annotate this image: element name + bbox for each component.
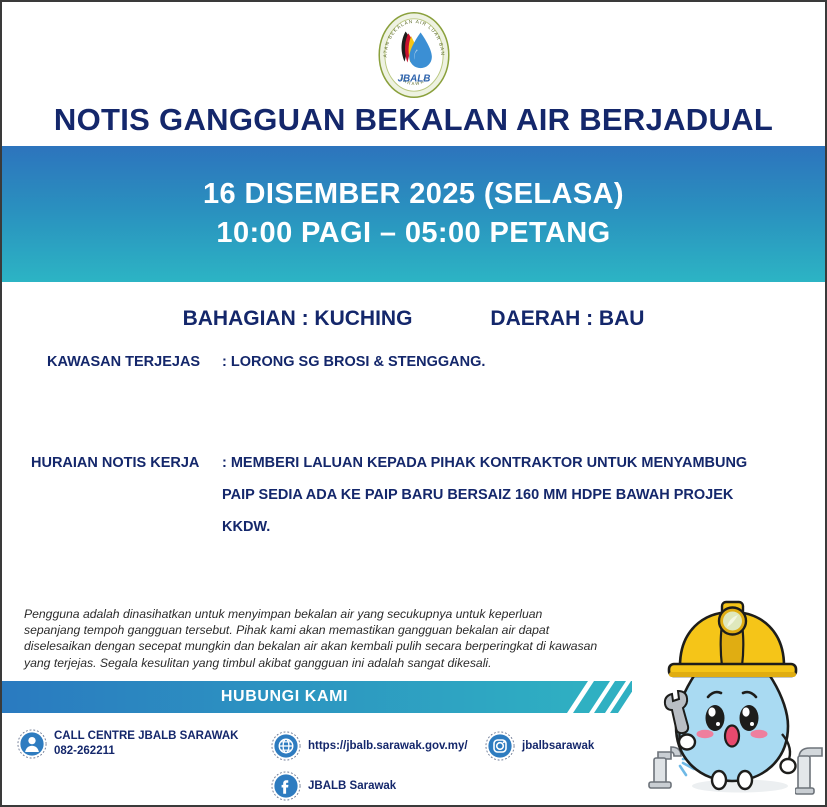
contact-facebook-text: JBALB Sarawak (308, 779, 396, 794)
hardhat-icon (669, 602, 796, 677)
pipe-tap-shape (795, 744, 825, 806)
work-description-line: : MEMBERI LALUAN KEPADA PIHAK KONTRAKTOR… (222, 455, 747, 471)
contact-bar-title: HUBUNGI KAMI (2, 681, 567, 713)
affected-area-value: : LORONG SG BROSI & STENGGANG. (222, 354, 485, 370)
globe-website-icon (271, 731, 301, 761)
disclaimer-text: Pengguna adalah dinasihatkan untuk menyi… (24, 606, 600, 671)
contact-facebook[interactable]: JBALB Sarawak (271, 771, 396, 801)
work-description-line: KKDW. (222, 519, 747, 535)
work-description-line: PAIP SEDIA ADA KE PAIP BARU BERSAIZ 160 … (222, 487, 747, 503)
wrench-icon (665, 691, 688, 733)
contact-website-text: https://jbalb.sarawak.gov.my/ (308, 739, 468, 754)
contact-call-centre[interactable]: CALL CENTRE JBALB SARAWAK 082-262211 (17, 729, 238, 759)
banner-date: 16 DISEMBER 2025 (SELASA) (203, 178, 624, 211)
contact-call-centre-text: CALL CENTRE JBALB SARAWAK 082-262211 (54, 729, 238, 758)
person-call-centre-icon (17, 729, 47, 759)
logo-acronym: JBALB (397, 73, 430, 84)
page-title: NOTIS GANGGUAN BEKALAN AIR BERJADUAL (2, 102, 825, 138)
contact-instagram[interactable]: jbalbsarawak (485, 731, 594, 761)
work-description-label: HURAIAN NOTIS KERJA (31, 455, 222, 471)
affected-area-row: KAWASAN TERJEJAS : LORONG SG BROSI & STE… (47, 354, 485, 370)
district-label: DAERAH : BAU (490, 307, 644, 331)
contact-instagram-text: jbalbsarawak (522, 739, 594, 754)
region-row: BAHAGIAN : KUCHING DAERAH : BAU (2, 307, 825, 331)
contact-website[interactable]: https://jbalb.sarawak.gov.my/ (271, 731, 468, 761)
schedule-banner: 16 DISEMBER 2025 (SELASA) 10:00 PAGI – 0… (2, 146, 825, 282)
jbalb-seal-logo: JABATAN BEKALAN AIR LUAR BANDAR SARAWAK … (367, 8, 461, 102)
work-description-value: : MEMBERI LALUAN KEPADA PIHAK KONTRAKTOR… (222, 455, 747, 535)
logo-container: JABATAN BEKALAN AIR LUAR BANDAR SARAWAK … (2, 8, 825, 102)
division-label: BAHAGIAN : KUCHING (183, 307, 413, 331)
instagram-icon (485, 731, 515, 761)
contact-bar: HUBUNGI KAMI (2, 681, 632, 713)
banner-time: 10:00 PAGI – 05:00 PETANG (216, 217, 610, 250)
notice-poster: JABATAN BEKALAN AIR LUAR BANDAR SARAWAK … (0, 0, 827, 807)
pipe-tap-icon (795, 744, 825, 806)
work-description-row: HURAIAN NOTIS KERJA : MEMBERI LALUAN KEP… (31, 455, 747, 535)
contact-line-1: CALL CENTRE JBALB SARAWAK (54, 729, 238, 744)
facebook-icon (271, 771, 301, 801)
affected-area-label: KAWASAN TERJEJAS (47, 354, 222, 370)
contact-line-2: 082-262211 (54, 744, 238, 759)
